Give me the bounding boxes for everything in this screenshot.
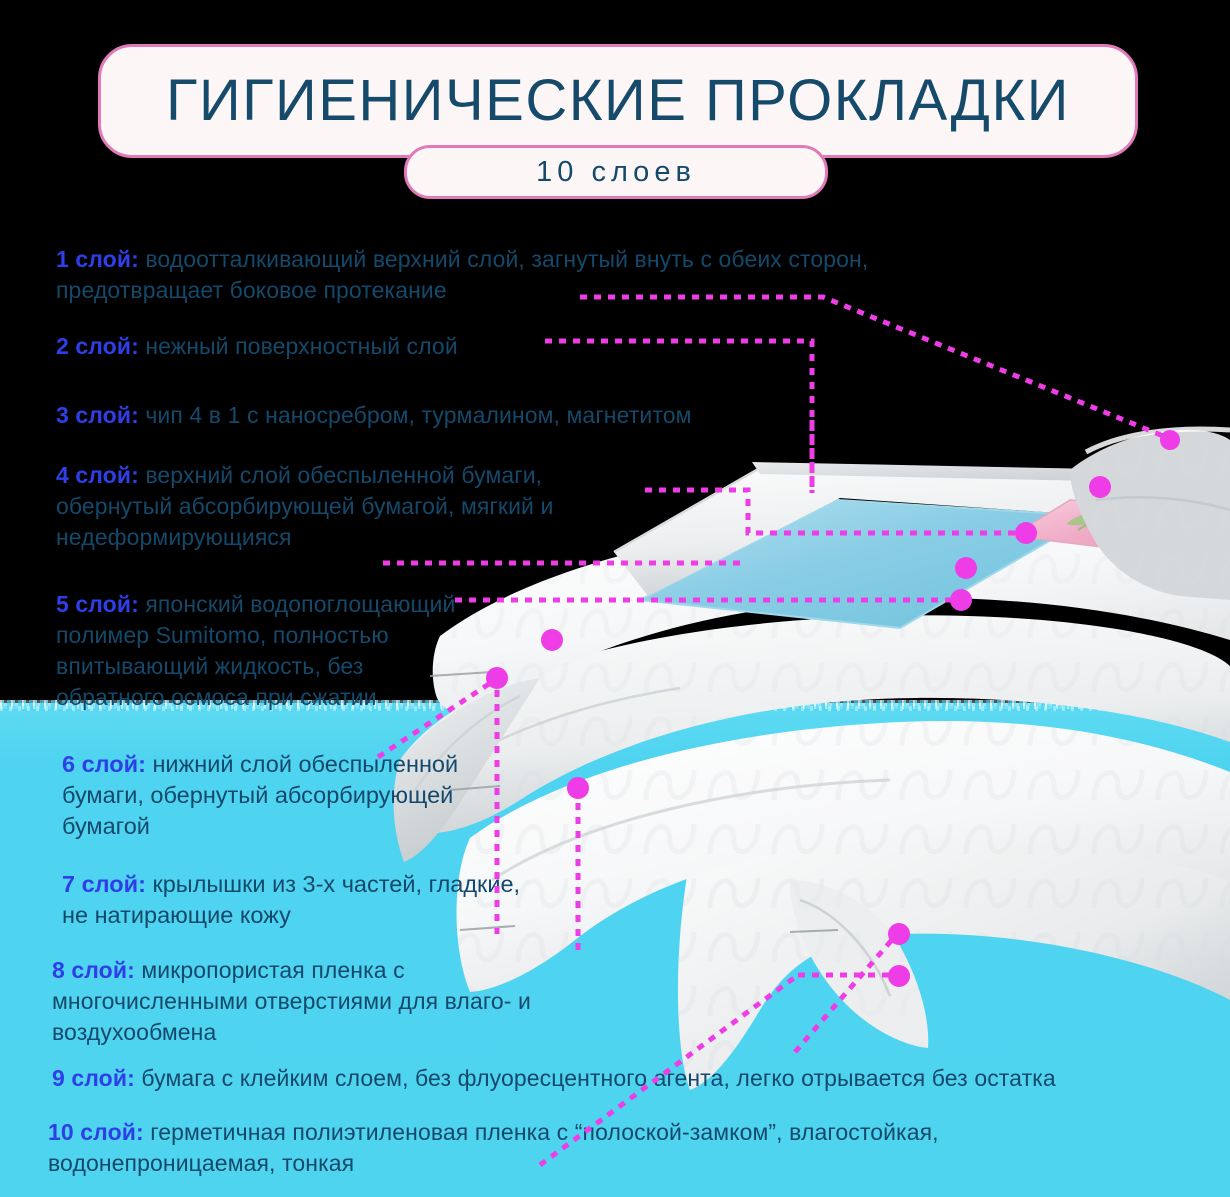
layer-label-4: 4 слой: [56, 462, 145, 488]
layer-item-8: 8 слой: микропористая пленка с многочисл… [52, 955, 572, 1048]
leader-line-4a [645, 490, 1022, 533]
layer-label-10: 10 слой: [48, 1119, 150, 1145]
callout-dot-1 [1160, 430, 1180, 450]
layer-item-10: 10 слой: герметичная полиэтиленовая плен… [48, 1117, 948, 1179]
callout-dot-6 [541, 629, 563, 651]
page-title: ГИГИЕНИЧЕСКИЕ ПРОКЛАДКИ [166, 72, 1070, 130]
layer-item-3: 3 слой: чип 4 в 1 с наносребром, турмали… [56, 400, 816, 431]
layer-text-2: нежный поверхностный слой [145, 333, 457, 359]
callout-dot-2 [1089, 476, 1111, 498]
top-cover-rail [752, 462, 1210, 516]
top-right-textured-flap [1070, 429, 1230, 600]
layer-item-5: 5 слой: японский водопоглощающий полимер… [56, 589, 476, 713]
layer-item-1: 1 слой: водоотталкивающий верхний слой, … [56, 244, 1016, 306]
callout-dot-5 [950, 589, 972, 611]
layer-item-2: 2 слой: нежный поверхностный слой [56, 331, 576, 362]
title-card: ГИГИЕНИЧЕСКИЕ ПРОКЛАДКИ [98, 44, 1138, 158]
layer-label-8: 8 слой: [52, 957, 141, 983]
layer-text-10: герметичная полиэтиленовая пленка с “пол… [48, 1119, 939, 1176]
layer-text-1: водоотталкивающий верхний слой, загнутый… [56, 246, 868, 303]
layer-label-7: 7 слой: [62, 871, 152, 897]
infographic-page: ГИГИЕНИЧЕСКИЕ ПРОКЛАДКИ 10 слоев 1 слой:… [0, 0, 1230, 1197]
layer-item-4: 4 слой: верхний слой обеспыленной бумаги… [56, 460, 656, 553]
callout-dot-3 [1015, 522, 1037, 544]
callout-dot-4 [955, 557, 977, 579]
layer-item-7: 7 слой: крылышки из 3-х частей, гладкие,… [62, 869, 522, 931]
layer-item-9: 9 слой: бумага с клейким слоем, без флуо… [52, 1063, 1212, 1094]
layer-text-9: бумага с клейким слоем, без флуоресцентн… [141, 1065, 1055, 1091]
layer-label-6: 6 слой: [62, 751, 152, 777]
nano-silver-chip [1012, 500, 1170, 548]
layer-item-6: 6 слой: нижний слой обеспыленной бумаги,… [62, 749, 522, 842]
layer-label-5: 5 слой: [56, 591, 145, 617]
layer-label-3: 3 слой: [56, 402, 145, 428]
subtitle-pill: 10 слоев [404, 145, 828, 199]
layer-label-2: 2 слой: [56, 333, 145, 359]
layer-text-3: чип 4 в 1 с наносребром, турмалином, маг… [145, 402, 691, 428]
layer-label-1: 1 слой: [56, 246, 145, 272]
subtitle-text: 10 слоев [536, 156, 696, 189]
dust-free-paper-top-sheet [614, 468, 1196, 596]
layer-label-9: 9 слой: [52, 1065, 141, 1091]
absorbent-polymer-layer-blue [640, 494, 1092, 628]
callout-dot-7 [486, 667, 508, 689]
